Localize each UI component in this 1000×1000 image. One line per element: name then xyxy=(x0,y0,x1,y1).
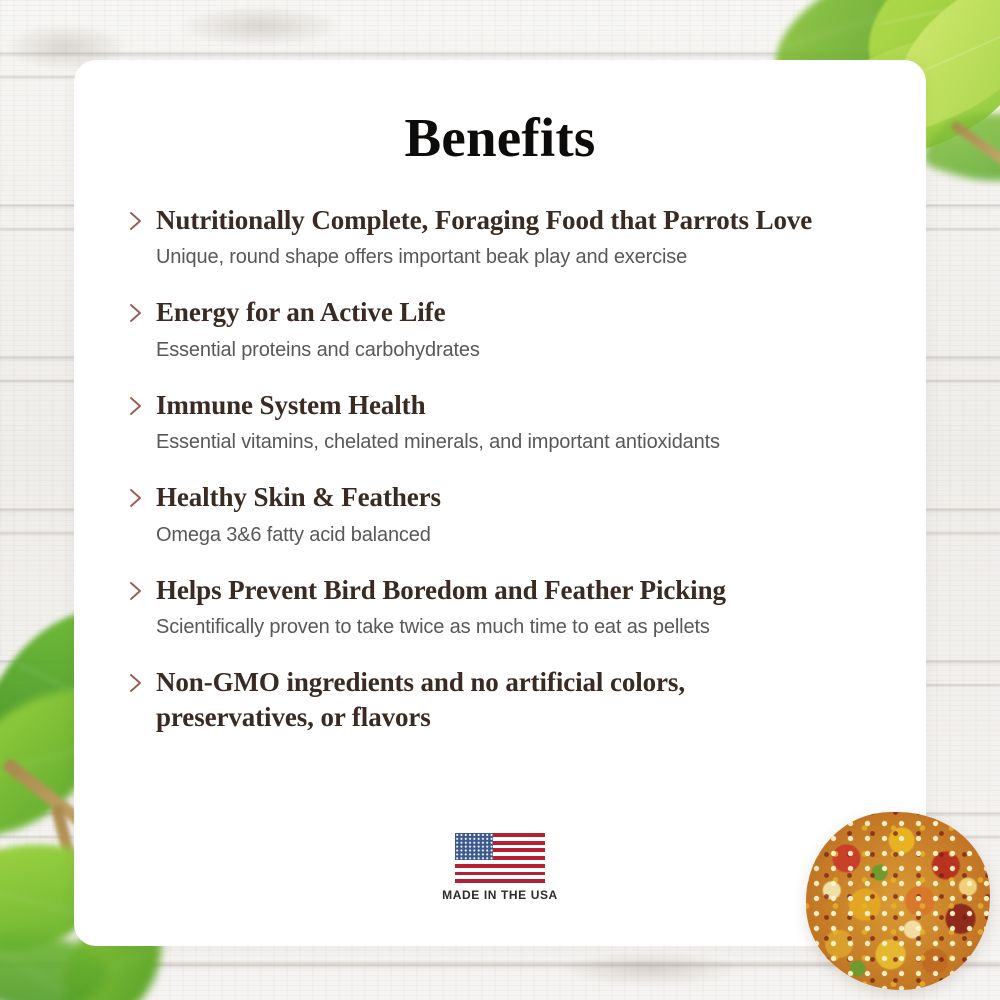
benefits-list: Nutritionally Complete, Foraging Food th… xyxy=(74,203,926,735)
page-title: Benefits xyxy=(74,108,926,169)
benefit-subtext: Omega 3&6 fatty acid balanced xyxy=(156,522,880,549)
benefit-item: Nutritionally Complete, Foraging Food th… xyxy=(126,203,880,272)
flag-stripe xyxy=(455,864,545,868)
chevron-right-icon xyxy=(126,671,148,695)
benefits-card: Benefits Nutritionally Complete, Foragin… xyxy=(74,60,926,946)
benefit-heading: Immune System Health xyxy=(156,388,880,423)
food-texture xyxy=(806,812,990,990)
benefit-heading: Helps Prevent Bird Boredom and Feather P… xyxy=(156,573,880,608)
flag-stripe xyxy=(455,872,545,876)
benefit-subtext: Essential proteins and carbohydrates xyxy=(156,337,880,364)
benefit-item: Energy for an Active Life Essential prot… xyxy=(126,295,880,364)
benefit-subtext: Scientifically proven to take twice as m… xyxy=(156,614,880,641)
chevron-right-icon xyxy=(126,579,148,603)
wood-knot xyxy=(180,6,340,46)
wood-knot xyxy=(560,952,740,986)
parrot-food-ball-image xyxy=(806,812,990,990)
chevron-right-icon xyxy=(126,486,148,510)
chevron-right-icon xyxy=(126,209,148,233)
benefit-heading: Energy for an Active Life xyxy=(156,295,880,330)
benefit-heading: Non-GMO ingredients and no artificial co… xyxy=(156,665,776,734)
us-flag-icon xyxy=(455,833,545,883)
benefit-subtext: Essential vitamins, chelated minerals, a… xyxy=(156,429,880,456)
scene: Benefits Nutritionally Complete, Foragin… xyxy=(0,0,1000,1000)
benefit-item: Non-GMO ingredients and no artificial co… xyxy=(126,665,880,734)
benefit-item: Healthy Skin & Feathers Omega 3&6 fatty … xyxy=(126,480,880,549)
benefit-item: Immune System Health Essential vitamins,… xyxy=(126,388,880,457)
flag-stripe xyxy=(455,879,545,883)
benefit-item: Helps Prevent Bird Boredom and Feather P… xyxy=(126,573,880,642)
chevron-right-icon xyxy=(126,394,148,418)
made-in-usa-caption: MADE IN THE USA xyxy=(74,888,926,902)
benefit-heading: Healthy Skin & Feathers xyxy=(156,480,880,515)
chevron-right-icon xyxy=(126,301,148,325)
benefit-heading: Nutritionally Complete, Foraging Food th… xyxy=(156,203,880,238)
made-in-usa-badge: MADE IN THE USA xyxy=(74,833,926,902)
flag-canton xyxy=(455,833,493,860)
benefit-subtext: Unique, round shape offers important bea… xyxy=(156,244,880,271)
